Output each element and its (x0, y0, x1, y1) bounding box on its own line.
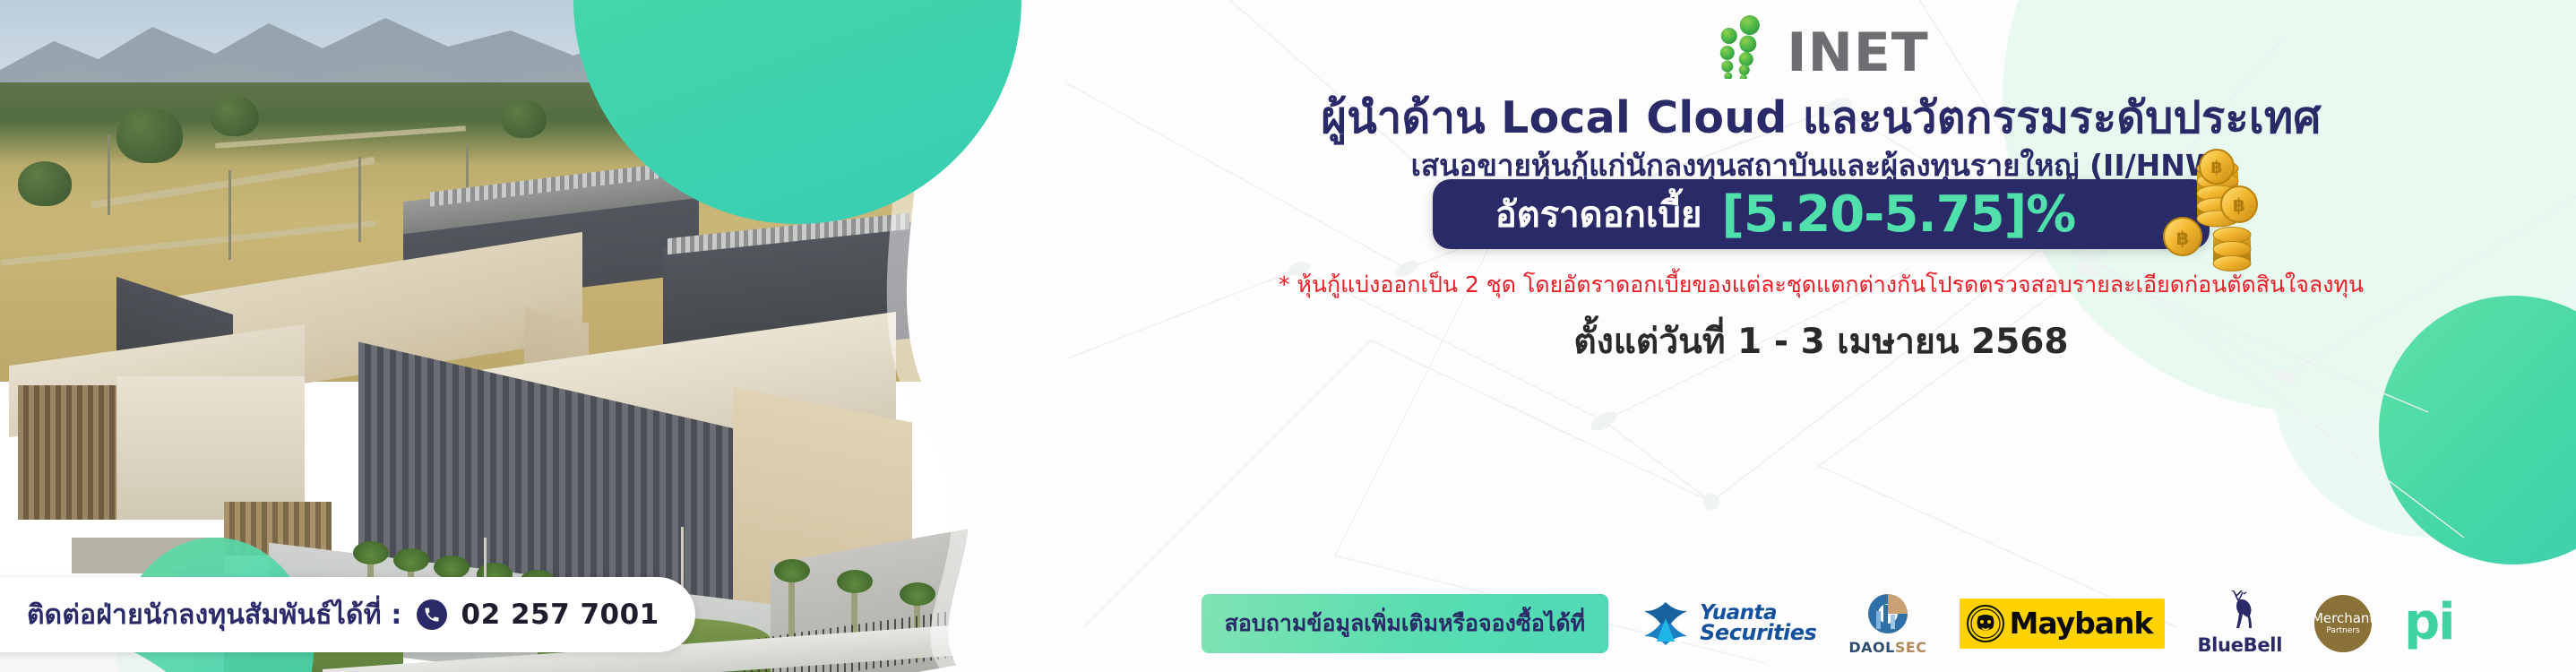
promo-banner: ติดต่อฝ่ายนักลงทุนสัมพันธ์ได้ที่ : 02 25… (0, 0, 2576, 672)
yuanta-line2: Securities (1700, 623, 1816, 642)
photo-tree (211, 97, 259, 136)
gold-coins-icon: ฿ ฿ ฿ (2145, 149, 2262, 274)
photo-pole (358, 157, 361, 242)
partner-logo-merchant[interactable]: Merchant Partners (2314, 595, 2372, 652)
photo-pole (108, 134, 110, 215)
svg-text:฿: ฿ (2176, 228, 2190, 249)
merchant-name: Merchant (2312, 612, 2374, 625)
daol-text: DAOL (1848, 639, 1894, 656)
pi-wordmark: pi (2404, 605, 2453, 641)
disclaimer-note: * หุ้นกู้แบ่งออกเป็น 2 ชุด โดยอัตราดอกเบ… (1066, 267, 2576, 303)
inet-logo[interactable]: INET (1713, 14, 1928, 79)
phone-number[interactable]: 02 257 7001 (461, 599, 659, 631)
daol-wordmark: DAOLSEC (1848, 639, 1926, 656)
phone-icon (417, 599, 447, 630)
merchant-circle-icon: Merchant Partners (2314, 595, 2372, 652)
bluebell-deer-icon (2217, 590, 2263, 633)
partner-logo-daol[interactable]: DAOLSEC (1848, 591, 1926, 656)
investor-relations-contact[interactable]: ติดต่อฝ่ายนักลงทุนสัมพันธ์ได้ที่ : 02 25… (0, 577, 695, 652)
photo-palm-tree (788, 573, 795, 636)
interest-rate-box: อัตราดอกเบี้ย [5.20-5.75]% (1433, 179, 2210, 249)
interest-rate-row: อัตราดอกเบี้ย [5.20-5.75]% (1066, 179, 2576, 249)
maybank-wordmark: Maybank (2010, 606, 2153, 641)
maybank-tiger-icon (1967, 605, 2004, 642)
daol-pie-icon (1860, 591, 1916, 636)
inet-dots-logo-icon (1713, 14, 1779, 79)
photo-tree (18, 161, 72, 206)
svg-text:฿: ฿ (2233, 194, 2245, 216)
banner-content: INET ผู้นำด้าน Local Cloud และนวัตกรรมระ… (1066, 0, 2576, 672)
interest-rate-value: [5.20-5.75]% (1721, 185, 2075, 244)
bluebell-wordmark: BlueBell (2197, 634, 2282, 656)
merchant-sub: Partners (2326, 627, 2359, 635)
photo-building-office-face (116, 376, 305, 520)
daol-sec-text: SEC (1895, 639, 1927, 656)
contact-label: ติดต่อฝ่ายนักลงทุนสัมพันธ์ได้ที่ : (27, 594, 402, 636)
yuanta-wordmark: Yuanta Securities (1700, 604, 1816, 642)
partner-logo-pi[interactable]: pi (2404, 605, 2453, 641)
photo-building-office-louvers (18, 385, 116, 520)
partner-logo-yuanta[interactable]: Yuanta Securities (1641, 599, 1816, 649)
photo-tree (116, 108, 183, 163)
photo-tree (502, 100, 547, 138)
inquire-subscribe-button[interactable]: สอบถามข้อมูลเพิ่มเติมหรือจองซื้อได้ที่ (1202, 594, 1609, 653)
partner-logo-maybank[interactable]: Maybank (1960, 599, 2166, 649)
photo-pole (228, 170, 231, 260)
offering-dates: ตั้งแต่วันที่ 1 - 3 เมษายน 2568 (1066, 314, 2576, 369)
partners-row: สอบถามข้อมูลเพิ่มเติมหรือจองซื้อได้ที่ Y… (1066, 590, 2576, 656)
photo-light-pole (681, 527, 684, 590)
partner-logo-bluebell[interactable]: BlueBell (2197, 590, 2282, 656)
svg-text:฿: ฿ (2211, 158, 2223, 177)
datacenter-photo (0, 0, 1066, 672)
yuanta-star-icon (1641, 599, 1691, 649)
interest-rate-label: อัตราดอกเบี้ย (1495, 185, 1702, 243)
inet-logo-text: INET (1787, 28, 1928, 79)
